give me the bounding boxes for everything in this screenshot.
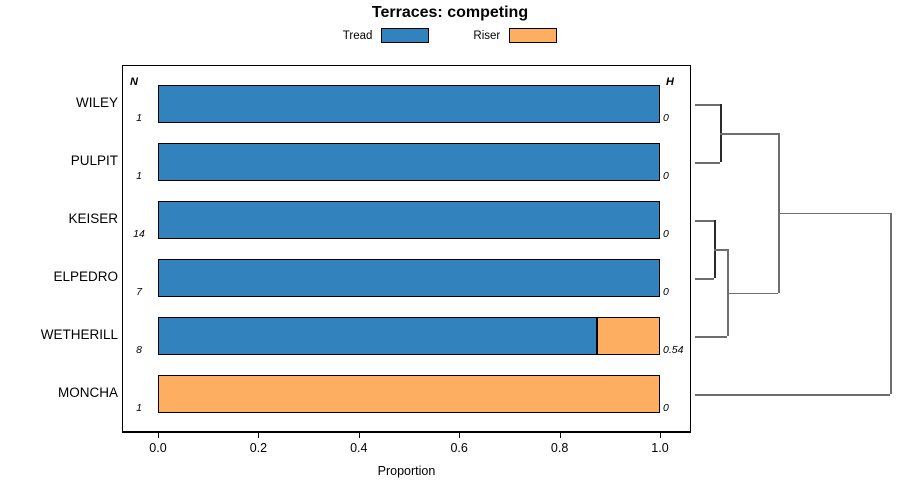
bar-segment-tread[interactable] xyxy=(158,259,660,297)
x-tick-label: 0.8 xyxy=(535,441,585,455)
x-tick xyxy=(660,432,661,438)
x-tick xyxy=(158,432,159,438)
x-tick-label: 1.0 xyxy=(635,441,685,455)
x-tick xyxy=(459,432,460,438)
x-tick-label: 0.2 xyxy=(233,441,283,455)
dendrogram-link xyxy=(695,220,714,222)
x-tick-label: 0.4 xyxy=(334,441,384,455)
dendrogram-link xyxy=(695,394,890,396)
x-axis-title: Proportion xyxy=(122,464,691,478)
bar-segment-tread[interactable] xyxy=(158,143,660,181)
dendrogram-link xyxy=(695,104,720,106)
x-tick-label: 0.0 xyxy=(133,441,183,455)
dendrogram-link xyxy=(695,162,720,164)
bar-segment-riser[interactable] xyxy=(158,375,660,413)
dendrogram-link xyxy=(727,293,778,295)
dendrogram-link xyxy=(890,213,892,394)
bar-segment-tread[interactable] xyxy=(158,317,597,355)
x-tick xyxy=(258,432,259,438)
dendrogram-link xyxy=(714,249,727,251)
dendrogram-link xyxy=(695,278,714,280)
x-tick xyxy=(560,432,561,438)
bar-segment-riser[interactable] xyxy=(597,317,660,355)
x-tick-label: 0.6 xyxy=(434,441,484,455)
bar-segment-tread[interactable] xyxy=(158,85,660,123)
bar-segment-tread[interactable] xyxy=(158,201,660,239)
dendrogram xyxy=(691,65,900,432)
chart-canvas: Terraces: competing Tread Riser N H WILE… xyxy=(0,0,900,500)
dendrogram-link xyxy=(778,213,890,215)
x-tick xyxy=(359,432,360,438)
dendrogram-link xyxy=(695,336,727,338)
dendrogram-link xyxy=(720,133,778,135)
